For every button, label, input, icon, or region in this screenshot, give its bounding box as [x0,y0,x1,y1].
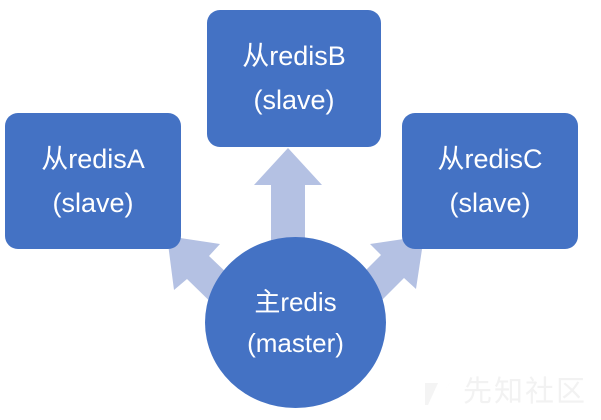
node-slave-a-title: 从redisA [41,146,145,173]
arrow-master-to-slave-b [254,148,322,245]
node-slave-c[interactable]: 从redisC (slave) [402,113,578,249]
node-slave-b-role: (slave) [253,87,334,114]
node-slave-a[interactable]: 从redisA (slave) [5,113,181,249]
node-slave-a-role: (slave) [52,190,133,217]
diagram-canvas: 从redisB (slave) 从redisA (slave) 从redisC … [0,0,601,420]
node-slave-b-title: 从redisB [242,43,346,70]
node-master-title: 主redis [254,289,336,315]
node-slave-c-title: 从redisC [437,146,542,173]
node-slave-c-role: (slave) [449,190,530,217]
node-slave-b[interactable]: 从redisB (slave) [207,10,381,147]
node-master-role: (master) [247,330,344,356]
node-master[interactable]: 主redis (master) [205,237,386,408]
